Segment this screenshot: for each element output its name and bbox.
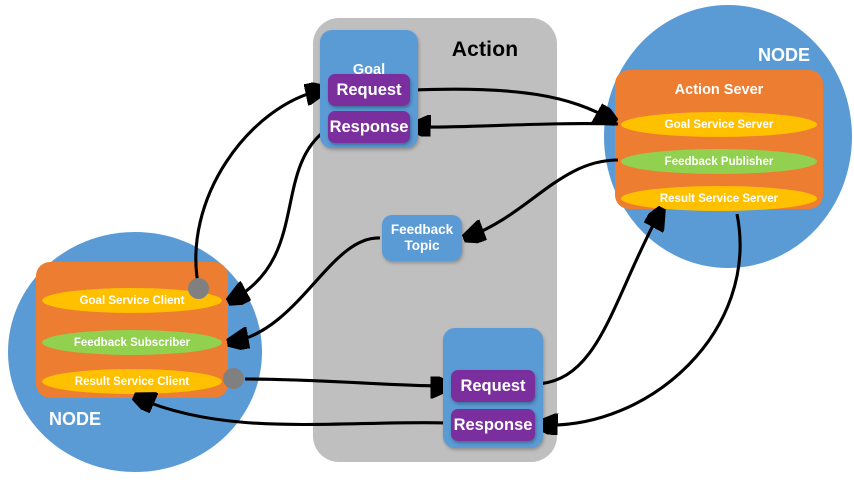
client-node-label: NODE bbox=[49, 409, 101, 430]
diagram-canvas: Action Action Client Goal Service Client… bbox=[0, 0, 854, 480]
action-panel-title: Action bbox=[420, 38, 550, 62]
server-node-label: NODE bbox=[758, 45, 810, 66]
result-service-response[interactable]: Response bbox=[451, 409, 535, 441]
action-client-title: Action Client bbox=[36, 0, 228, 16]
feedback-topic-box[interactable]: Feedback Topic bbox=[382, 215, 462, 261]
pill-feedback-subscriber[interactable]: Feedback Subscriber bbox=[42, 330, 222, 355]
feedback-topic-line1: Feedback bbox=[391, 222, 453, 238]
feedback-topic-line2: Topic bbox=[405, 238, 440, 254]
result-client-connector-dot bbox=[223, 368, 244, 389]
goal-service-request[interactable]: Request bbox=[328, 74, 410, 106]
action-server-title: Action Sever bbox=[615, 82, 823, 98]
arrow-goalresponse-to-goalclient bbox=[232, 130, 326, 300]
goal-client-connector-dot bbox=[188, 278, 209, 299]
pill-feedback-publisher[interactable]: Feedback Publisher bbox=[621, 149, 817, 174]
pill-result-service-client[interactable]: Result Service Client bbox=[42, 369, 222, 394]
pill-result-service-server[interactable]: Result Service Server bbox=[621, 186, 817, 211]
pill-goal-service-server[interactable]: Goal Service Server bbox=[621, 112, 817, 137]
goal-service-response[interactable]: Response bbox=[328, 111, 410, 143]
result-service-request[interactable]: Request bbox=[451, 370, 535, 402]
